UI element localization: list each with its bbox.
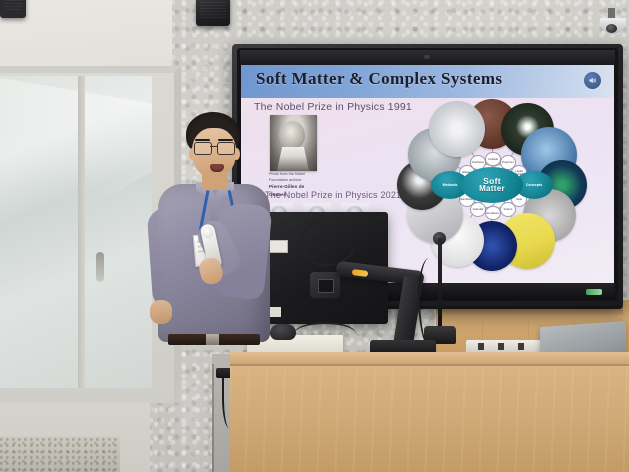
mindmap-image-circle <box>429 101 485 157</box>
power-strip-socket[interactable] <box>518 343 524 350</box>
jeans-seam <box>212 364 214 472</box>
display-status-led <box>586 289 602 295</box>
wall-speaker-icon <box>0 0 26 18</box>
desk-front-panel <box>230 366 629 472</box>
door-mullion <box>78 76 85 388</box>
slide-title: Soft Matter & Complex Systems <box>256 69 502 89</box>
door-handle[interactable] <box>96 252 104 282</box>
mindmap-center-line2: Matter <box>479 185 505 193</box>
monitor-vesa-mount <box>310 272 340 298</box>
glasses-icon <box>194 142 235 153</box>
power-strip-socket[interactable] <box>498 343 504 350</box>
mindmap-center: Soft Matter <box>461 167 523 203</box>
nobel-2021-heading: The Nobel Prize in Physics 2021 <box>265 190 401 200</box>
power-strip-socket[interactable] <box>478 343 484 350</box>
presenter-hand <box>150 300 172 324</box>
floor-strip <box>0 437 120 472</box>
ceiling-camera-icon <box>596 8 626 36</box>
jeans-highlight <box>172 372 208 462</box>
speaker-icon[interactable] <box>584 72 601 89</box>
display-sensor-icon <box>424 55 430 59</box>
soft-matter-mindmap: PhysicsChemistryMaterialsBiologyMicroMes… <box>417 103 607 281</box>
mindmap-node: Foams <box>500 202 516 217</box>
wall-speaker-icon <box>196 0 230 26</box>
mindmap-node: Emulsions <box>485 206 501 221</box>
presenter-neck <box>202 172 228 190</box>
lecture-room-screenshot: Soft Matter & Complex Systems The Nobel … <box>0 0 629 472</box>
presenter <box>150 112 278 472</box>
